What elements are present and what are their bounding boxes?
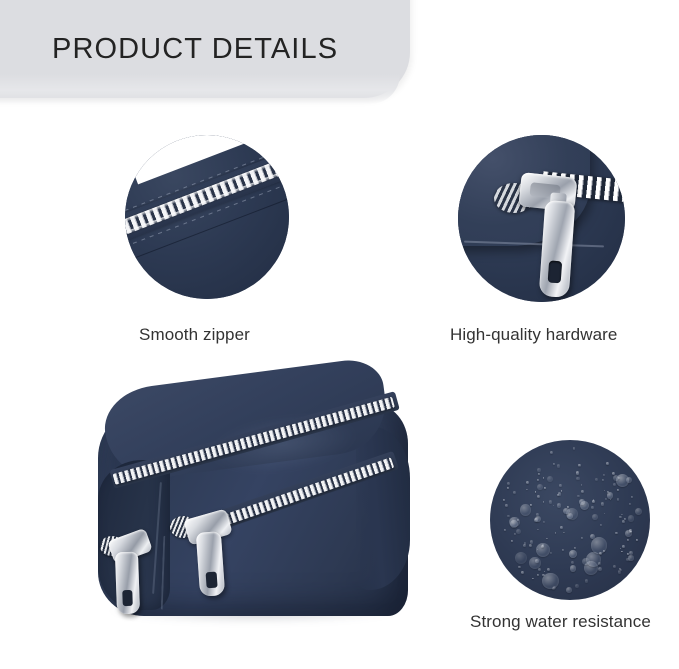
feature-caption-smooth-zipper: Smooth zipper (139, 325, 250, 345)
water-droplet (620, 569, 622, 571)
water-droplet (537, 479, 539, 481)
water-droplet (617, 489, 619, 491)
water-droplet (538, 568, 541, 571)
water-droplet (580, 501, 589, 510)
water-droplet (553, 586, 556, 589)
water-droplet (577, 495, 580, 498)
water-droplet (511, 540, 513, 542)
water-droplet (569, 550, 577, 558)
water-droplet (537, 495, 540, 498)
water-droplet (515, 552, 527, 564)
water-droplet (595, 478, 598, 481)
water-droplet (606, 462, 609, 465)
pouch-right-edge (356, 426, 410, 590)
water-droplet (547, 476, 553, 482)
water-droplet (507, 487, 509, 489)
water-droplet (600, 524, 602, 526)
water-droplet (563, 532, 564, 533)
water-droplet (530, 540, 533, 543)
water-droplet (530, 504, 531, 505)
water-droplet (581, 484, 582, 485)
water-droplet (526, 481, 529, 484)
water-droplet (532, 578, 534, 580)
water-droplet (521, 571, 523, 573)
water-droplet (598, 567, 602, 571)
top-pull-slot (122, 590, 133, 606)
water-droplet (544, 571, 545, 572)
water-droplet (567, 506, 569, 508)
water-droplet (622, 520, 625, 523)
water-droplet (518, 566, 520, 568)
water-droplet (543, 521, 545, 523)
water-droplet (537, 484, 543, 490)
water-droplet (603, 474, 605, 476)
water-droplets-icon (490, 440, 650, 600)
water-droplet (559, 484, 562, 487)
water-droplet (592, 514, 598, 520)
water-droplet (601, 502, 604, 505)
water-droplet (543, 477, 544, 478)
front-pull-slot (206, 572, 218, 589)
water-droplet (592, 500, 595, 503)
water-droplet (505, 504, 507, 506)
water-droplet (523, 544, 526, 547)
water-droplet (607, 492, 613, 498)
water-droplet (555, 532, 557, 534)
feature-caption-high-quality-hardware: High-quality hardware (450, 325, 617, 345)
front-zipper-pull-tab (196, 531, 225, 597)
water-droplet (537, 468, 541, 472)
water-droplet (578, 464, 581, 467)
water-droplet (561, 490, 562, 491)
water-droplet (510, 520, 518, 528)
water-droplet (570, 565, 576, 571)
water-droplet (550, 451, 553, 454)
water-droplet (622, 545, 625, 548)
water-droplet (520, 504, 532, 516)
water-droplet (547, 568, 550, 571)
water-droplet (636, 539, 638, 541)
water-droplet (557, 464, 560, 467)
water-droplet (607, 491, 609, 493)
water-droplet (550, 552, 552, 554)
water-droplet (591, 506, 593, 508)
water-droplet (628, 555, 633, 560)
water-droplet (516, 529, 522, 535)
water-droplet (631, 496, 633, 498)
water-droplet (557, 503, 562, 508)
feature-image-smooth-zipper (125, 135, 289, 299)
pull-tab-slot (548, 260, 563, 283)
header-banner-fade (0, 74, 400, 104)
water-droplet (529, 544, 532, 547)
zipper-slider-icon (458, 135, 625, 302)
water-droplet (591, 537, 607, 553)
water-droplet (543, 501, 545, 503)
water-droplet (629, 503, 631, 505)
front-pocket-seam (161, 536, 186, 611)
water-droplet (553, 463, 555, 465)
water-droplet (585, 579, 589, 583)
water-droplet (503, 499, 505, 501)
water-droplet (576, 477, 579, 480)
feature-image-strong-water-resistance (490, 440, 650, 600)
water-droplet (620, 548, 621, 549)
water-droplet (621, 551, 622, 552)
water-droplet (534, 518, 538, 522)
water-droplet (581, 490, 584, 493)
water-droplet (542, 544, 545, 547)
water-droplet (560, 526, 563, 529)
water-droplet (544, 487, 546, 489)
water-droplet (536, 513, 539, 516)
water-droplet (524, 542, 526, 544)
water-droplet (581, 537, 583, 539)
top-zipper-pull-tab (115, 552, 140, 615)
water-droplet (563, 508, 569, 514)
water-droplet (613, 565, 616, 568)
water-droplet (553, 505, 555, 507)
water-droplet (535, 491, 537, 493)
water-droplet (504, 529, 506, 531)
water-droplet (526, 489, 528, 491)
water-droplet (507, 482, 510, 485)
feature-caption-strong-water-resistance: Strong water resistance (470, 612, 651, 632)
water-droplet (538, 473, 540, 475)
water-droplet (514, 533, 516, 535)
water-droplet (546, 538, 547, 539)
water-droplet (617, 498, 619, 500)
water-droplet (613, 483, 616, 486)
water-droplet (567, 513, 573, 519)
water-droplet (507, 515, 509, 517)
water-droplet (513, 491, 516, 494)
water-droplet (542, 573, 558, 589)
water-droplet (602, 479, 604, 481)
zipper-macro-icon (125, 135, 289, 299)
water-droplet (615, 532, 618, 535)
water-droplet (562, 549, 564, 551)
water-droplet (571, 561, 574, 564)
water-droplet (628, 515, 634, 521)
water-droplet (537, 574, 538, 575)
water-droplet (537, 529, 538, 530)
water-droplet (627, 539, 629, 541)
water-droplet (610, 499, 611, 500)
water-droplet (635, 508, 642, 515)
water-droplet (566, 587, 572, 593)
water-droplet (621, 514, 623, 516)
water-droplet (549, 500, 552, 503)
water-droplet (625, 530, 632, 537)
product-photo (88, 386, 433, 648)
water-droplet (575, 584, 579, 588)
feature-image-high-quality-hardware (458, 135, 625, 302)
water-droplet (574, 547, 576, 549)
page-title: PRODUCT DETAILS (52, 33, 338, 66)
product-details-page: PRODUCT DETAILS Smooth zipper (0, 0, 679, 669)
water-droplet (576, 471, 580, 475)
water-droplet (573, 447, 576, 450)
water-droplet (619, 516, 622, 519)
water-droplet (604, 513, 605, 514)
water-droplet (624, 518, 626, 520)
water-droplet (604, 490, 606, 492)
